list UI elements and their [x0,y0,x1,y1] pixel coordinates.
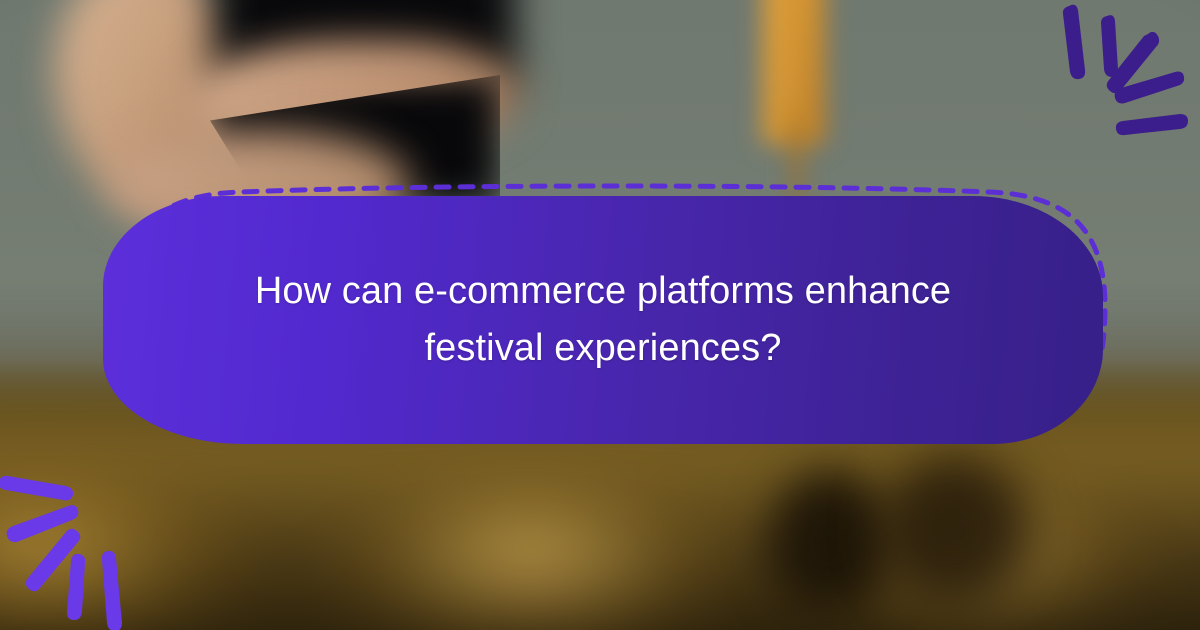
og-image-canvas: How can e-commerce platforms enhance fes… [0,0,1200,630]
page-title: How can e-commerce platforms enhance fes… [103,263,1103,377]
question-card: How can e-commerce platforms enhance fes… [103,186,1103,444]
sparkle-burst-bottom-left-icon [4,464,179,624]
card-surface: How can e-commerce platforms enhance fes… [103,196,1103,444]
sparkle-burst-top-right-icon [1012,2,1182,157]
